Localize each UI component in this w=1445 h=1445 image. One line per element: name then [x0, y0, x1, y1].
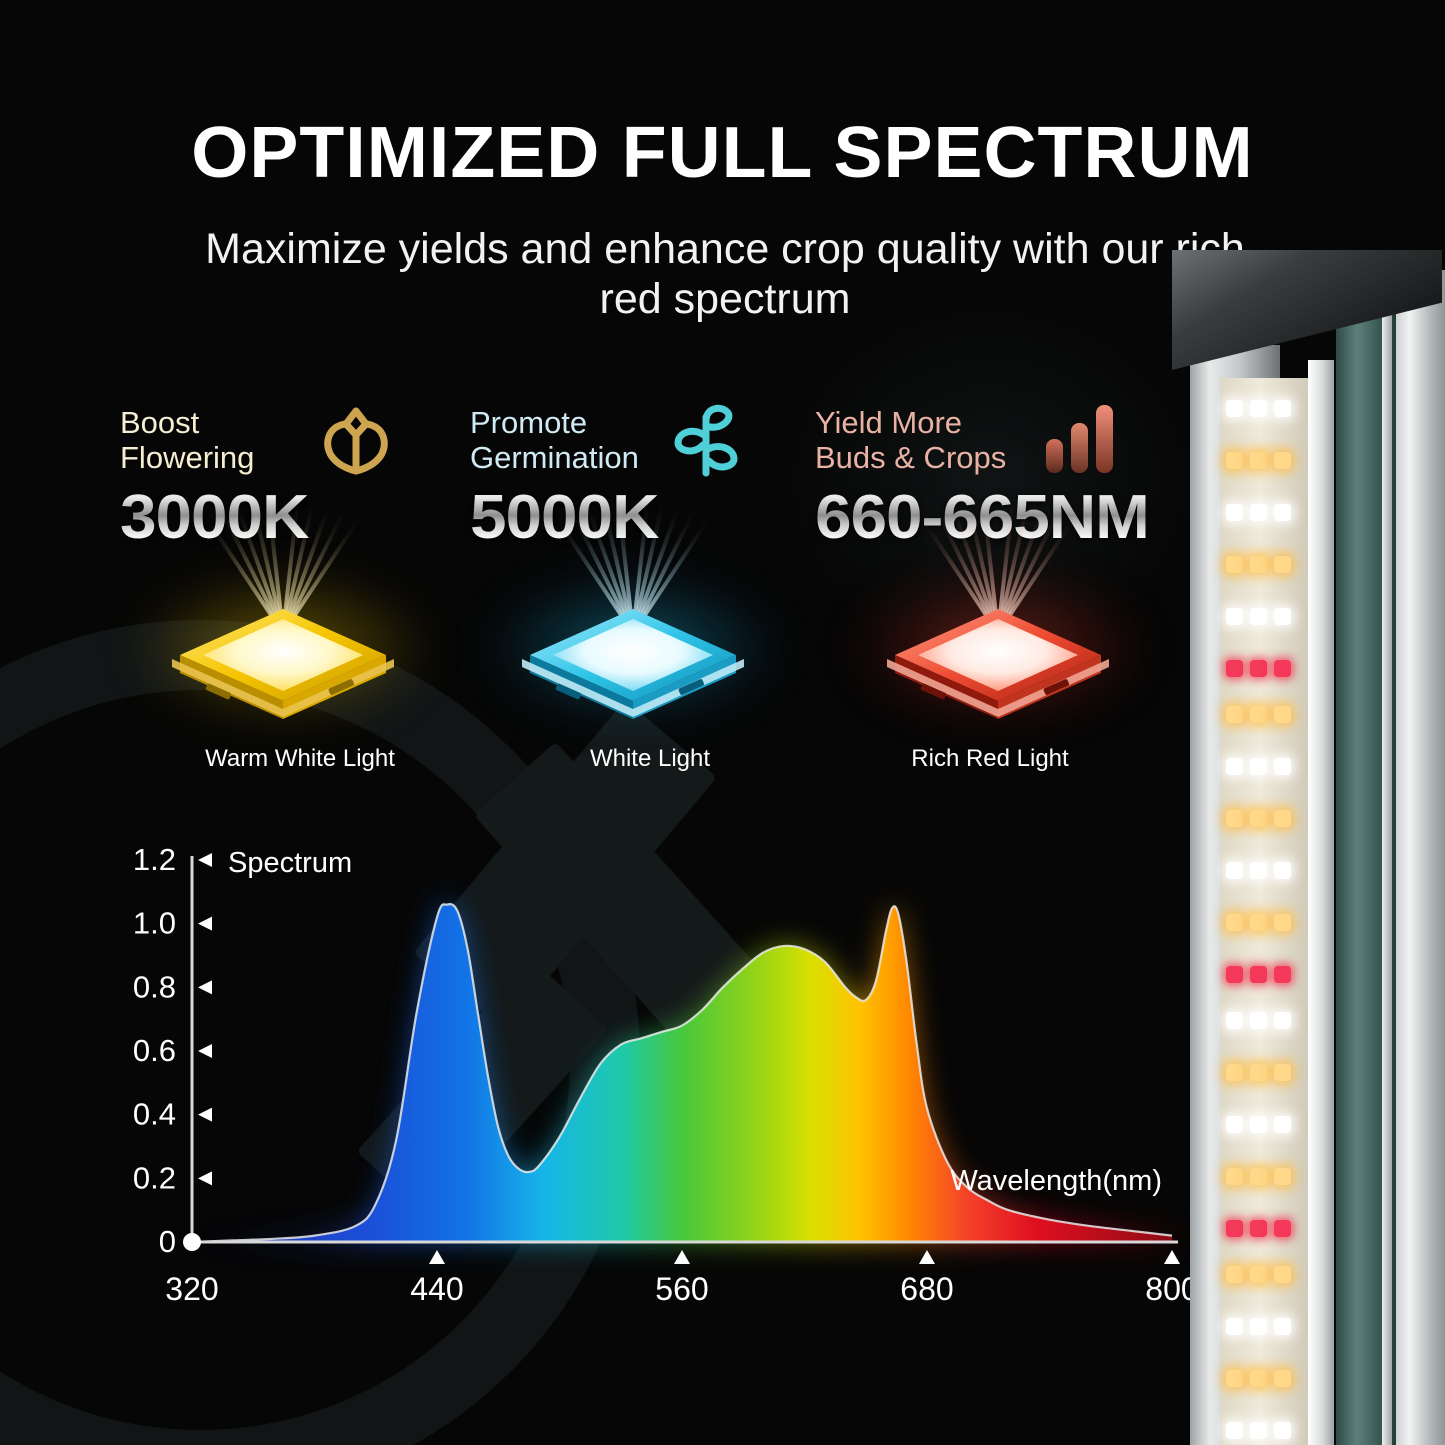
- led-row: [1226, 400, 1306, 417]
- led-diode: [1274, 862, 1291, 879]
- led-row: [1226, 1012, 1306, 1029]
- feature-badge-white: Promote Germination 5000K: [470, 405, 830, 549]
- led-row: [1226, 556, 1306, 573]
- feature-title: Yield More Buds & Crops: [815, 405, 1175, 475]
- led-row: [1226, 966, 1306, 983]
- x-axis-tick: [919, 1250, 935, 1264]
- led-diode: [1274, 452, 1291, 469]
- feature-title: Boost Flowering: [120, 405, 480, 475]
- spectrum-chart: 00.20.40.60.81.01.2320440560680800Spectr…: [110, 830, 1210, 1310]
- led-diode: [1226, 1116, 1243, 1133]
- x-axis-tick: [429, 1250, 445, 1264]
- y-axis-tick: [198, 1108, 212, 1122]
- y-axis-label: 1.0: [133, 906, 176, 941]
- led-diode: [1274, 1422, 1291, 1439]
- led-diode: [1226, 504, 1243, 521]
- led-diode: [1250, 1266, 1267, 1283]
- led-row: [1226, 1422, 1306, 1439]
- led-diode: [1250, 1370, 1267, 1387]
- led-diode: [1274, 400, 1291, 417]
- led-diode: [1250, 1012, 1267, 1029]
- led-diode: [1274, 706, 1291, 723]
- led-diode: [1274, 1318, 1291, 1335]
- led-grow-light-bar: [1160, 250, 1445, 1445]
- feature-caption: Warm White Light: [120, 745, 480, 773]
- y-axis-tick: [198, 853, 212, 867]
- tulip-flower-icon: [315, 401, 397, 482]
- led-diode: [1250, 1064, 1267, 1081]
- led-diode: [1250, 400, 1267, 417]
- x-axis-title: Wavelength(nm): [950, 1165, 1162, 1197]
- led-chip-white: [498, 555, 768, 735]
- led-diode: [1226, 556, 1243, 573]
- led-diode: [1274, 1266, 1291, 1283]
- feature-caption: Rich Red Light: [825, 745, 1155, 773]
- led-row: [1226, 452, 1306, 469]
- led-diode: [1226, 1422, 1243, 1439]
- led-diode: [1274, 1116, 1291, 1133]
- lightbar-outer-frame: [1394, 270, 1445, 1445]
- led-row: [1226, 706, 1306, 723]
- led-diode: [1226, 1012, 1243, 1029]
- led-diode: [1226, 862, 1243, 879]
- led-row: [1226, 914, 1306, 931]
- y-axis-label: 0.8: [133, 969, 176, 1004]
- x-axis-label: 440: [410, 1271, 463, 1307]
- led-row: [1226, 1220, 1306, 1237]
- lightbar-rail: [1382, 290, 1392, 1445]
- led-row: [1226, 660, 1306, 677]
- lightbar-gloss-edge: [1308, 360, 1334, 1445]
- led-chip-warm-white: [148, 555, 418, 735]
- led-diode: [1250, 1168, 1267, 1185]
- led-row: [1226, 1116, 1306, 1133]
- y-axis-tick: [198, 980, 212, 994]
- y-axis-label: 0.4: [133, 1097, 176, 1132]
- origin-marker: [183, 1233, 201, 1251]
- led-row: [1226, 810, 1306, 827]
- led-diode: [1274, 1168, 1291, 1185]
- y-axis-label: 1.2: [133, 842, 176, 877]
- ascending-bars-icon: [1040, 401, 1118, 480]
- led-diode: [1274, 1370, 1291, 1387]
- y-axis-label: 0.6: [133, 1033, 176, 1068]
- led-diode: [1250, 452, 1267, 469]
- feature-caption: White Light: [470, 745, 830, 773]
- led-diode: [1274, 914, 1291, 931]
- led-diode: [1226, 660, 1243, 677]
- led-diode: [1250, 862, 1267, 879]
- y-axis-title: Spectrum: [228, 847, 352, 879]
- led-diode: [1274, 810, 1291, 827]
- led-row: [1226, 1370, 1306, 1387]
- y-axis-label: 0: [159, 1224, 176, 1259]
- led-chip-red: [863, 555, 1133, 735]
- led-diode: [1226, 966, 1243, 983]
- led-diode: [1226, 608, 1243, 625]
- led-diode: [1226, 1168, 1243, 1185]
- led-diode: [1250, 810, 1267, 827]
- led-row: [1226, 1064, 1306, 1081]
- led-diode: [1274, 758, 1291, 775]
- y-axis-tick: [198, 1171, 212, 1185]
- led-row: [1226, 758, 1306, 775]
- led-diode: [1274, 1064, 1291, 1081]
- led-diode: [1226, 1220, 1243, 1237]
- y-axis-label: 0.2: [133, 1160, 176, 1195]
- led-diode: [1226, 810, 1243, 827]
- led-diode: [1250, 1422, 1267, 1439]
- sprout-seedling-icon: [670, 401, 742, 484]
- feature-title: Promote Germination: [470, 405, 830, 475]
- led-diode: [1226, 400, 1243, 417]
- led-diode: [1274, 1012, 1291, 1029]
- led-diode: [1226, 1318, 1243, 1335]
- led-diode: [1250, 556, 1267, 573]
- led-diode: [1274, 556, 1291, 573]
- y-axis-tick: [198, 1044, 212, 1058]
- led-diode: [1250, 504, 1267, 521]
- led-diode: [1226, 706, 1243, 723]
- page-subtitle: Maximize yields and enhance crop quality…: [195, 224, 1255, 324]
- lightbar-diode-panel: [1220, 378, 1310, 1445]
- led-row: [1226, 1168, 1306, 1185]
- led-row: [1226, 862, 1306, 879]
- led-diode: [1250, 1220, 1267, 1237]
- feature-badge-warm-white: Boost Flowering 3000K: [120, 405, 480, 549]
- led-diode: [1250, 1116, 1267, 1133]
- led-diode: [1250, 966, 1267, 983]
- infographic-root: OPTIMIZED FULL SPECTRUM Maximize yields …: [0, 0, 1445, 1445]
- led-diode: [1226, 1064, 1243, 1081]
- led-diode: [1250, 758, 1267, 775]
- y-axis-tick: [198, 917, 212, 931]
- led-diode: [1226, 914, 1243, 931]
- led-diode: [1226, 1266, 1243, 1283]
- led-diode: [1274, 1220, 1291, 1237]
- led-diode: [1250, 608, 1267, 625]
- led-diode: [1250, 1318, 1267, 1335]
- x-axis-label: 560: [655, 1271, 708, 1307]
- led-diode: [1274, 504, 1291, 521]
- x-axis-label: 320: [165, 1271, 218, 1307]
- led-diode: [1250, 660, 1267, 677]
- led-row: [1226, 608, 1306, 625]
- led-row: [1226, 1266, 1306, 1283]
- led-diode: [1274, 608, 1291, 625]
- x-axis-tick: [674, 1250, 690, 1264]
- led-diode: [1226, 1370, 1243, 1387]
- led-diode: [1226, 758, 1243, 775]
- led-diode: [1274, 966, 1291, 983]
- led-diode: [1274, 660, 1291, 677]
- led-diode: [1250, 914, 1267, 931]
- page-title: OPTIMIZED FULL SPECTRUM: [0, 112, 1445, 194]
- led-diode: [1250, 706, 1267, 723]
- x-axis-label: 680: [900, 1271, 953, 1307]
- feature-badge-red: Yield More Buds & Crops 660-665NM: [815, 405, 1175, 549]
- led-row: [1226, 1318, 1306, 1335]
- led-diode: [1226, 452, 1243, 469]
- led-row: [1226, 504, 1306, 521]
